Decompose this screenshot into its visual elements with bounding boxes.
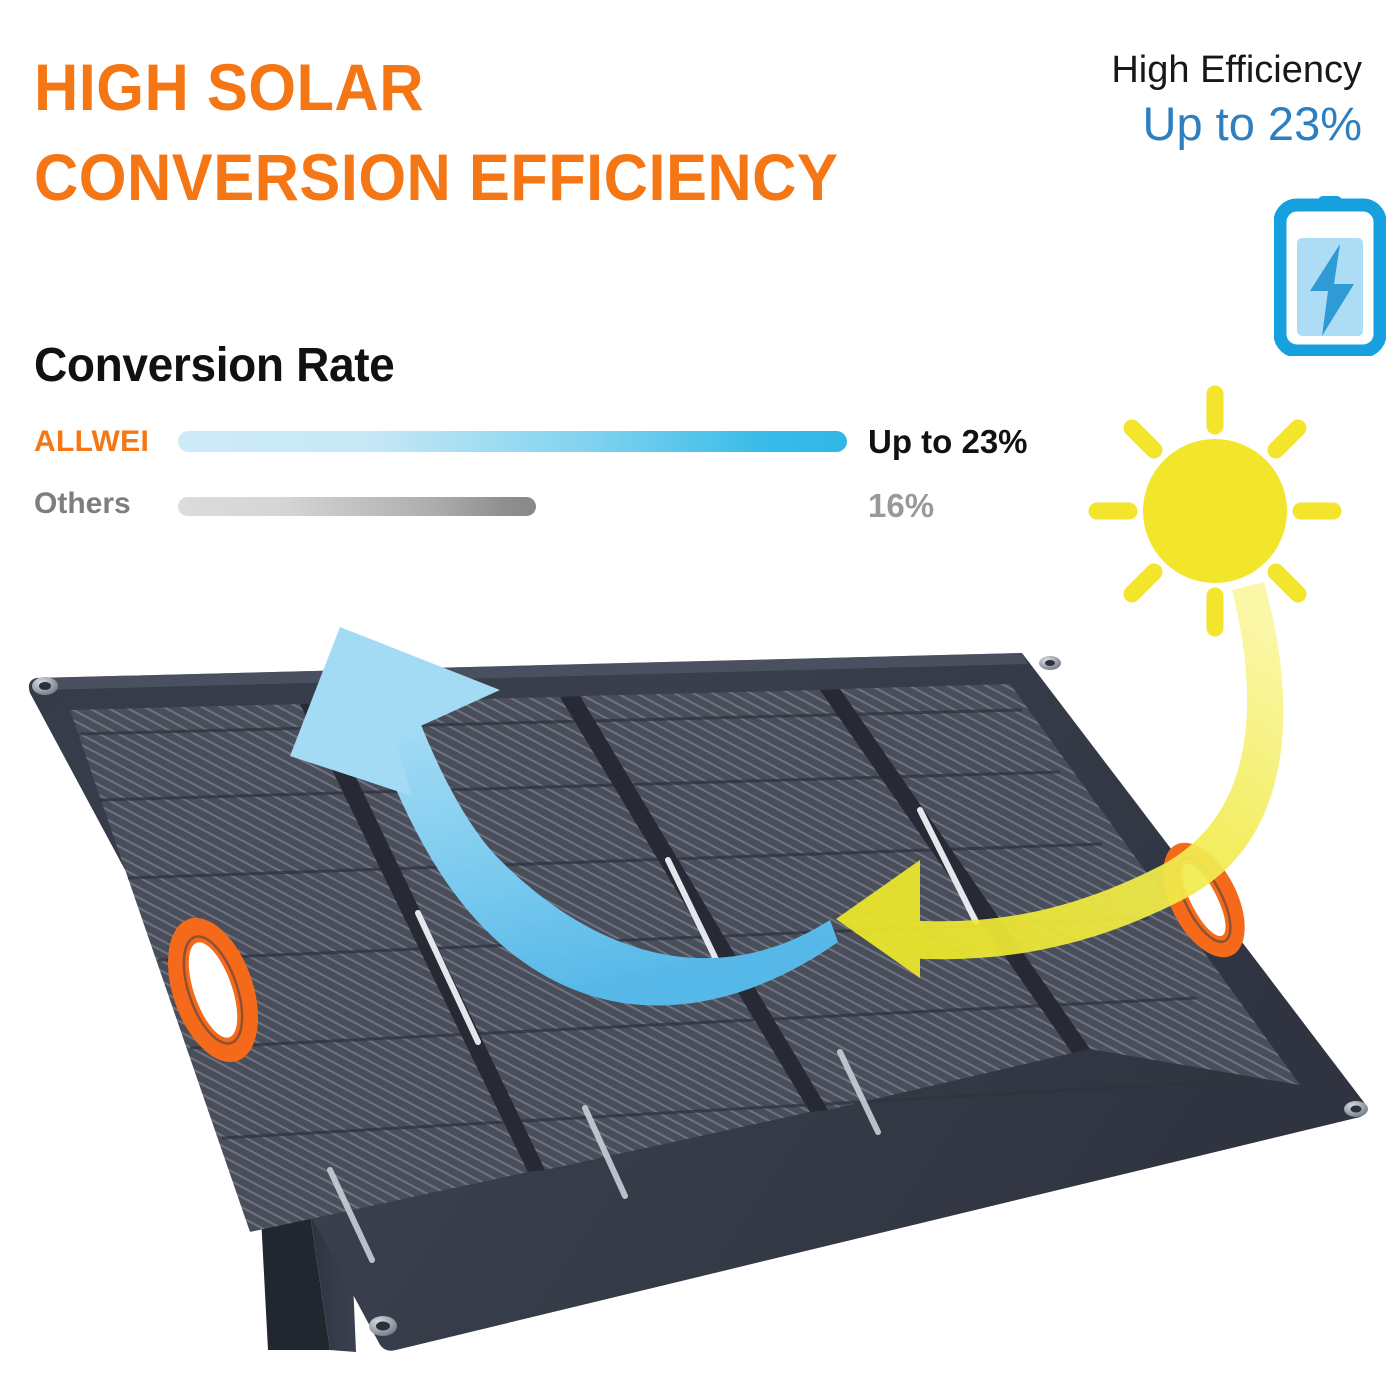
panel-grommet [32, 677, 58, 695]
conversion-bar-row-allwei: ALLWEI Up to 23% [34, 420, 1074, 464]
page-headline: HIGH SOLAR CONVERSION EFFICIENCY [34, 42, 1034, 222]
conversion-rate-title: Conversion Rate [34, 338, 394, 393]
bar-fill-allwei [178, 431, 847, 452]
conversion-bar-row-others: Others 16% [34, 482, 1074, 526]
bar-label-others: Others [34, 482, 174, 526]
bar-value-allwei: Up to 23% [868, 420, 1028, 464]
bar-label-allwei: ALLWEI [34, 420, 174, 464]
bar-value-others: 16% [868, 484, 934, 528]
efficiency-badge: High Efficiency Up to 23% [1032, 46, 1362, 152]
efficiency-value: Up to 23% [1032, 96, 1362, 152]
panel-grommet [1344, 1101, 1368, 1117]
battery-charging-icon [1274, 196, 1386, 356]
headline-line-1: HIGH SOLAR [34, 42, 964, 132]
panel-grommet [1039, 656, 1061, 670]
efficiency-label: High Efficiency [1032, 46, 1362, 94]
bar-fill-others [178, 497, 536, 516]
headline-line-2: CONVERSION EFFICIENCY [34, 132, 964, 222]
panel-grommet [369, 1316, 397, 1336]
product-scene [0, 560, 1400, 1400]
